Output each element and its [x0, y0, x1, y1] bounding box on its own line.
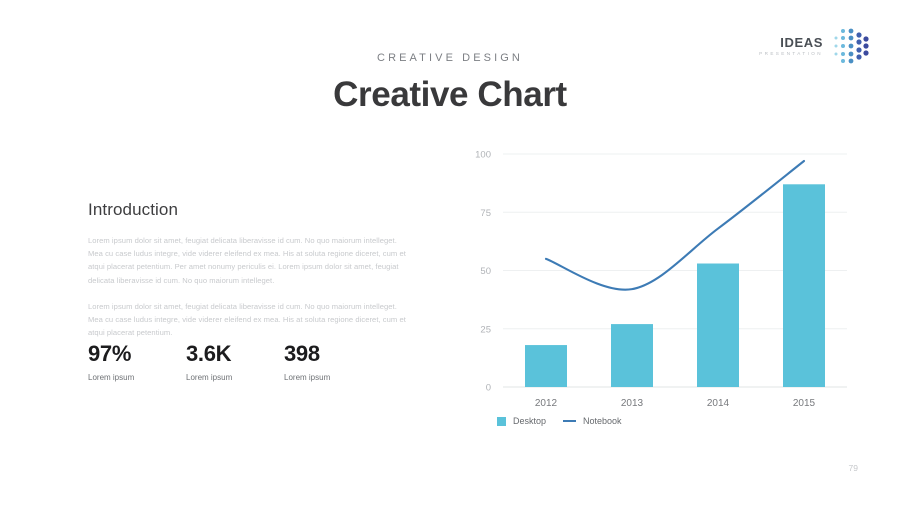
legend-label: Notebook [583, 416, 622, 426]
stat-label: Lorem ipsum [88, 373, 186, 382]
chart-bar[interactable] [525, 345, 567, 387]
legend-line-icon [563, 420, 576, 422]
stat-label: Lorem ipsum [186, 373, 284, 382]
stat-value: 3.6K [186, 341, 284, 367]
introduction-heading: Introduction [88, 200, 406, 220]
slide-canvas: IDEAS PRESENTATION [0, 0, 900, 506]
introduction-paragraph-1: Lorem ipsum dolor sit amet, feugiat deli… [88, 234, 406, 287]
legend-label: Desktop [513, 416, 546, 426]
creative-chart: 0255075100 2012201320142015 [455, 145, 855, 445]
legend-item-desktop[interactable]: Desktop [497, 416, 546, 426]
logo-title: IDEAS [759, 36, 823, 49]
x-axis-tick: 2015 [793, 398, 816, 409]
introduction-paragraph-2: Lorem ipsum dolor sit amet, feugiat deli… [88, 300, 406, 340]
stats-row: 97% Lorem ipsum 3.6K Lorem ipsum 398 Lor… [88, 341, 382, 382]
legend-item-notebook[interactable]: Notebook [563, 416, 622, 426]
y-axis-tick: 0 [486, 383, 491, 394]
y-axis-tick: 25 [480, 324, 491, 335]
x-axis-tick: 2012 [535, 398, 558, 409]
stat-value: 97% [88, 341, 186, 367]
chart-bar[interactable] [783, 184, 825, 387]
y-axis-tick: 100 [475, 150, 491, 161]
eyebrow-label: CREATIVE DESIGN [0, 52, 900, 64]
bar-series-desktop [525, 184, 825, 387]
page-title: Creative Chart [0, 75, 900, 115]
stat-item: 3.6K Lorem ipsum [186, 341, 284, 382]
y-axis-labels: 0255075100 [475, 150, 491, 394]
introduction-section: Introduction Lorem ipsum dolor sit amet,… [88, 200, 406, 339]
stat-item: 97% Lorem ipsum [88, 341, 186, 382]
chart-svg: 0255075100 2012201320142015 [455, 145, 855, 415]
x-axis-tick: 2013 [621, 398, 644, 409]
chart-bar[interactable] [611, 324, 653, 387]
stat-value: 398 [284, 341, 382, 367]
chart-bar[interactable] [697, 264, 739, 387]
legend-square-icon [497, 417, 506, 426]
page-number: 79 [849, 463, 858, 473]
stat-label: Lorem ipsum [284, 373, 382, 382]
x-axis-labels: 2012201320142015 [535, 398, 816, 409]
y-axis-tick: 50 [480, 266, 491, 277]
slide-header: CREATIVE DESIGN Creative Chart [0, 52, 900, 115]
chart-legend: Desktop Notebook [497, 416, 622, 426]
x-axis-tick: 2014 [707, 398, 730, 409]
y-axis-tick: 75 [480, 208, 491, 219]
stat-item: 398 Lorem ipsum [284, 341, 382, 382]
